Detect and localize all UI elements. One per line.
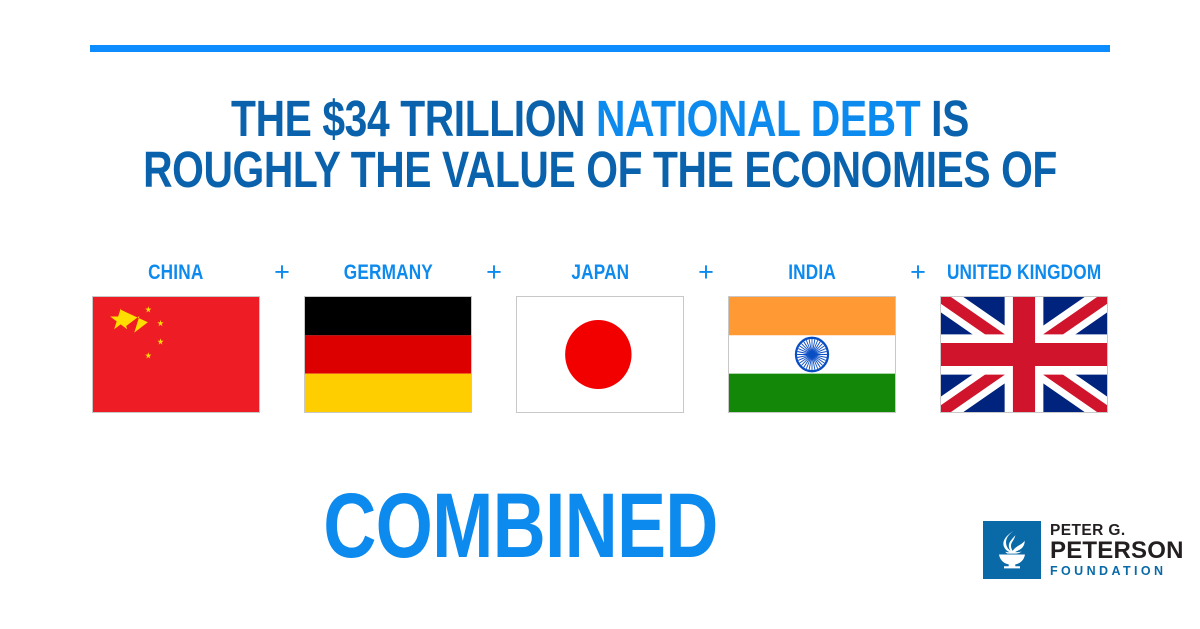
japan-flag bbox=[516, 296, 684, 413]
logo-line-foundation: FOUNDATION bbox=[1050, 565, 1184, 579]
country-label-india: INDIA bbox=[788, 262, 836, 283]
united-kingdom-flag-icon bbox=[941, 297, 1107, 412]
plus-separator-4: + bbox=[906, 259, 930, 286]
united-kingdom-flag bbox=[940, 296, 1108, 413]
country-item-germany: GERMANY bbox=[302, 262, 474, 413]
country-item-china: CHINA bbox=[90, 262, 262, 413]
plus-separator-1: + bbox=[270, 259, 294, 286]
country-flags-row: CHINA + GERMANY bbox=[90, 262, 1110, 413]
top-accent-bar bbox=[90, 45, 1110, 52]
headline-text-primary-2: IS bbox=[920, 90, 969, 147]
germany-flag-icon bbox=[305, 297, 471, 412]
japan-flag-icon bbox=[517, 297, 683, 412]
plus-separator-2: + bbox=[482, 259, 506, 286]
germany-flag bbox=[304, 296, 472, 413]
logo-wordmark: PETER G. PETERSON FOUNDATION bbox=[1050, 521, 1184, 579]
peterson-foundation-logo: PETER G. PETERSON FOUNDATION bbox=[983, 521, 1184, 579]
headline: THE $34 TRILLION NATIONAL DEBT IS ROUGHL… bbox=[0, 96, 1200, 194]
india-flag bbox=[728, 296, 896, 413]
china-flag-icon bbox=[93, 297, 259, 412]
headline-line-1: THE $34 TRILLION NATIONAL DEBT IS bbox=[120, 96, 1080, 143]
headline-text-primary: THE $34 TRILLION bbox=[231, 90, 596, 147]
country-label-japan: JAPAN bbox=[571, 262, 629, 283]
combined-text: COMBINED bbox=[323, 480, 717, 572]
country-item-japan: JAPAN bbox=[514, 262, 686, 413]
plus-separator-3: + bbox=[694, 259, 718, 286]
india-flag-icon bbox=[729, 297, 895, 412]
country-item-united-kingdom: UNITED KINGDOM bbox=[938, 262, 1110, 413]
china-flag bbox=[92, 296, 260, 413]
headline-line-2: ROUGHLY THE VALUE OF THE ECONOMIES OF bbox=[120, 147, 1080, 194]
headline-text-accent: NATIONAL DEBT bbox=[596, 90, 920, 147]
torch-icon bbox=[983, 521, 1041, 579]
country-item-india: INDIA bbox=[726, 262, 898, 413]
logo-line-peterson: PETERSON bbox=[1050, 539, 1184, 563]
country-label-china: CHINA bbox=[148, 262, 203, 283]
country-label-united-kingdom: UNITED KINGDOM bbox=[947, 262, 1101, 283]
country-label-germany: GERMANY bbox=[343, 262, 432, 283]
torch-icon-svg bbox=[983, 521, 1041, 579]
